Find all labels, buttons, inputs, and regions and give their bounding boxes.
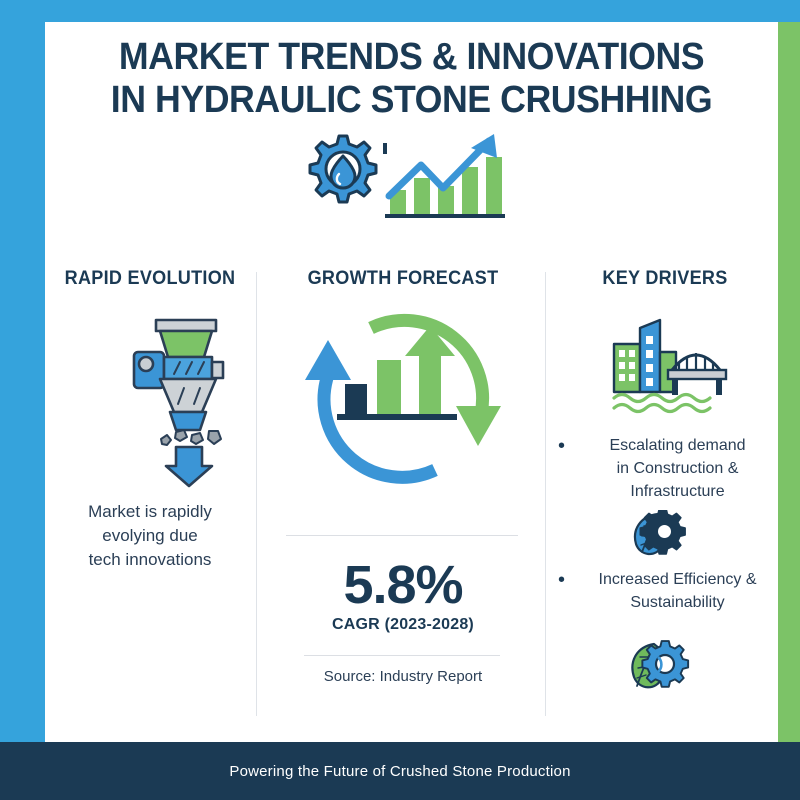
key-driver-bullet-2-text: Increased Efficiency & Sustainability <box>575 568 780 614</box>
column-growth-forecast: GROWTH FORECAST 5.8% CAGR (2023-2028) <box>262 268 544 290</box>
bullet-2-line-1: Increased Efficiency & <box>599 571 757 588</box>
cagr-value: 5.8% <box>262 556 544 614</box>
frame-bar-top <box>0 0 800 22</box>
frame-bar-right <box>778 22 800 742</box>
caption-line-1: Market is rapidly <box>45 500 255 524</box>
poster-title: MARKET TRENDS & INNOVATIONS IN HYDRAULIC… <box>45 36 778 122</box>
column-heading-rapid-evolution: RAPID EVOLUTION <box>50 268 250 290</box>
growth-divider-top <box>286 535 518 536</box>
growth-divider-bottom <box>304 655 500 656</box>
growth-cycle-bars-icon <box>289 302 515 498</box>
leaf-gear-icon-green <box>628 640 698 696</box>
key-driver-bullet-2: • Increased Efficiency & Sustainability <box>558 568 780 614</box>
footer-tagline: Powering the Future of Crushed Stone Pro… <box>0 742 800 800</box>
column-divider-left <box>256 272 257 716</box>
key-driver-bullet-1-text: Escalating demand in Construction & Infr… <box>575 434 780 503</box>
bullet-1-line-3: Infrastructure <box>630 483 724 500</box>
column-rapid-evolution: RAPID EVOLUTION <box>45 268 255 290</box>
bullet-marker-icon: • <box>558 436 565 456</box>
stone-crusher-machine-icon <box>130 316 242 488</box>
column-divider-right <box>545 272 546 716</box>
rapid-evolution-caption: Market is rapidly evolying due tech inno… <box>45 500 255 572</box>
title-line-2: IN HYDRAULIC STONE CRUSHHING <box>67 79 756 122</box>
column-key-drivers: KEY DRIVERS <box>552 268 778 290</box>
column-heading-growth-forecast: GROWTH FORECAST <box>269 268 537 290</box>
bullet-1-line-2: in Construction & <box>617 460 739 477</box>
gear-water-drop-growth-chart-icon <box>293 128 513 233</box>
caption-line-3: tech innovations <box>45 548 255 572</box>
leaf-gear-icon-blue <box>630 510 696 562</box>
infographic-poster: MARKET TRENDS & INNOVATIONS IN HYDRAULIC… <box>0 0 800 800</box>
cagr-label: CAGR (2023-2028) <box>262 616 544 634</box>
bullet-marker-icon: • <box>558 570 565 590</box>
bullet-2-line-2: Sustainability <box>630 594 724 611</box>
caption-line-2: evolying due <box>45 524 255 548</box>
frame-bar-left <box>0 0 45 742</box>
city-bridge-infrastructure-icon <box>608 314 732 418</box>
bullet-1-line-1: Escalating demand <box>609 437 745 454</box>
source-label: Source: Industry Report <box>262 668 544 685</box>
key-driver-bullet-1: • Escalating demand in Construction & In… <box>558 434 780 503</box>
column-heading-key-drivers: KEY DRIVERS <box>558 268 773 290</box>
title-line-1: MARKET TRENDS & INNOVATIONS <box>67 36 756 79</box>
